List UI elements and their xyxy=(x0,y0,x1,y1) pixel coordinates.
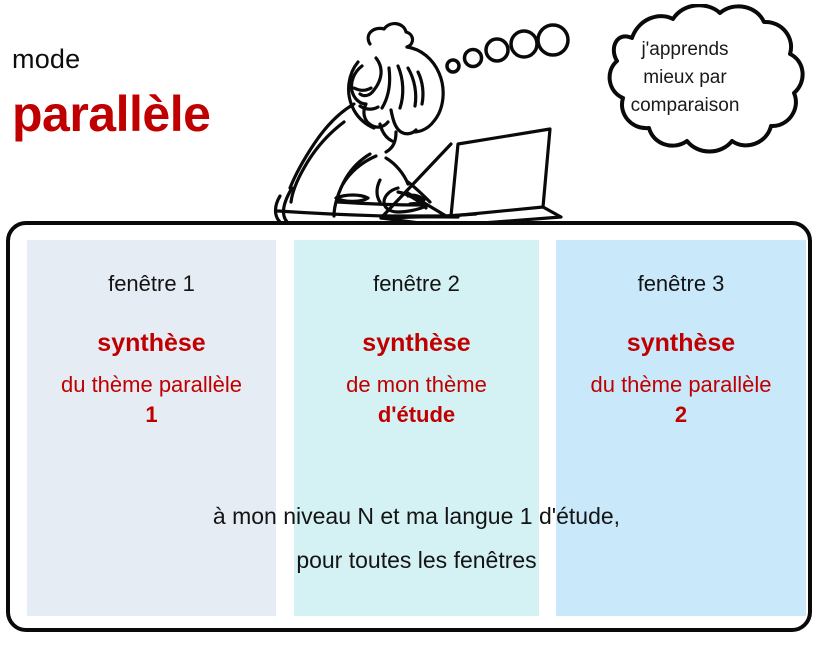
thought-bubble-dots-icon xyxy=(440,18,570,78)
window-3-subtitle-text: du thème parallèle xyxy=(590,372,771,397)
bubble-line-3: comparaison xyxy=(631,95,740,116)
slide-root: mode parallèle xyxy=(0,0,829,646)
window-3-subtitle: du thème parallèle 2 xyxy=(556,370,806,430)
window-2-header: fenêtre 2 xyxy=(294,270,539,298)
window-column-2[interactable]: fenêtre 2 synthèse de mon thème d'étude xyxy=(294,240,539,616)
mode-title: parallèle xyxy=(12,85,210,143)
window-2-synthese: synthèse xyxy=(294,328,539,358)
window-3-number: 2 xyxy=(560,400,802,430)
bubble-line-1: j'apprends xyxy=(641,39,728,60)
window-3-synthese: synthèse xyxy=(556,328,806,358)
windows-columns: fenêtre 1 synthèse du thème parallèle 1 … xyxy=(27,240,806,616)
window-1-number: 1 xyxy=(31,400,272,430)
window-3-header: fenêtre 3 xyxy=(556,270,806,298)
window-1-header: fenêtre 1 xyxy=(27,270,276,298)
window-column-3[interactable]: fenêtre 3 synthèse du thème parallèle 2 xyxy=(556,240,806,616)
mode-label: mode xyxy=(12,44,80,75)
bubble-line-2: mieux par xyxy=(643,67,726,88)
thought-bubble-text: j'apprends mieux par comparaison xyxy=(600,36,770,120)
window-1-subtitle-text: du thème parallèle xyxy=(61,372,242,397)
window-1-subtitle: du thème parallèle 1 xyxy=(27,370,276,430)
window-1-synthese: synthèse xyxy=(27,328,276,358)
window-2-subtitle: de mon thème d'étude xyxy=(294,370,539,430)
window-2-subtitle-text: de mon thème xyxy=(346,372,487,397)
window-column-1[interactable]: fenêtre 1 synthèse du thème parallèle 1 xyxy=(27,240,276,616)
window-2-number: d'étude xyxy=(298,400,535,430)
